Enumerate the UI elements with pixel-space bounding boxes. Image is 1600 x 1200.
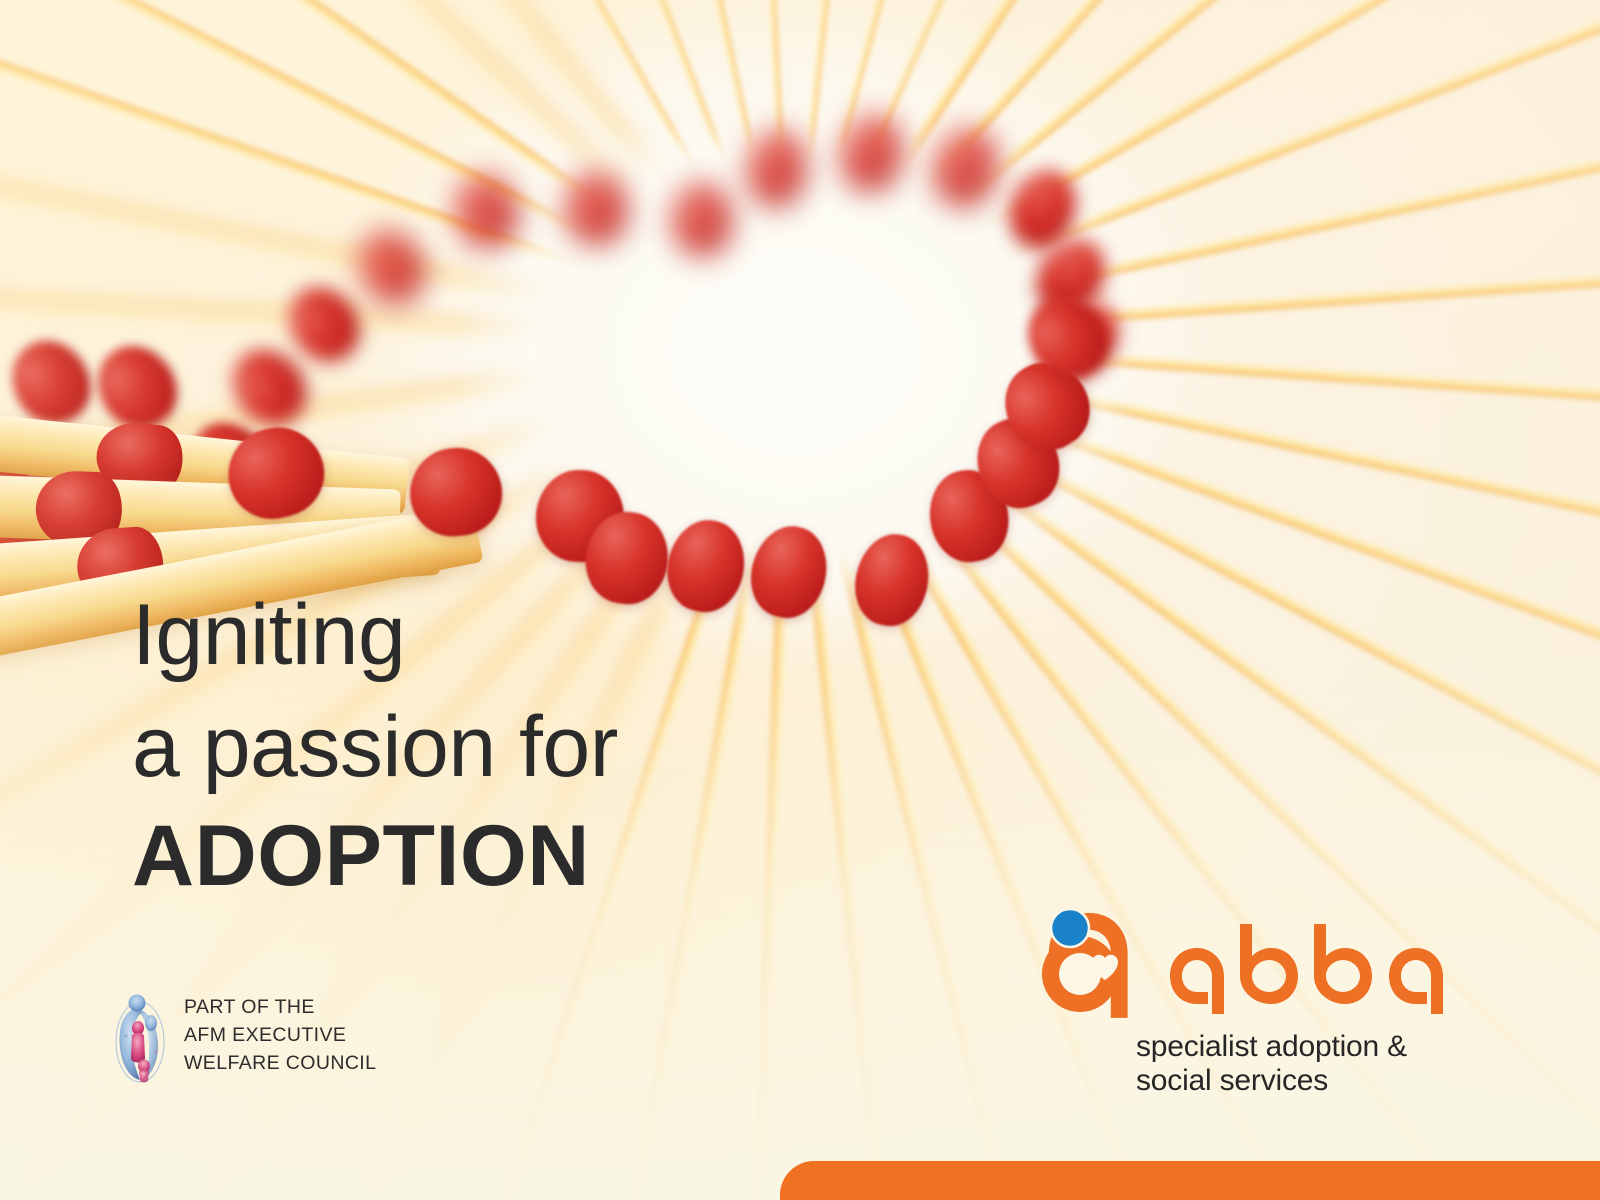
abba-tagline-line-2: social services <box>1136 1064 1448 1098</box>
afm-line-1: PART OF THE <box>184 994 376 1022</box>
match-head <box>346 220 435 314</box>
afm-badge: PART OF THE AFM EXECUTIVE WELFARE COUNCI… <box>112 986 376 1086</box>
afm-line-2: AFM EXECUTIVE <box>184 1022 376 1050</box>
abba-a-heart-icon <box>1028 900 1148 1022</box>
family-watercolor-icon <box>112 986 168 1086</box>
match-head <box>276 274 372 373</box>
abba-logo-row <box>1028 900 1448 1022</box>
afm-badge-text: PART OF THE AFM EXECUTIVE WELFARE COUNCI… <box>184 994 376 1077</box>
headline-line-1: Igniting <box>132 592 618 680</box>
headline: Igniting a passion for ADOPTION <box>132 592 618 901</box>
abba-logo: specialist adoption & social services <box>1028 900 1448 1097</box>
headline-line-3: ADOPTION <box>132 813 618 901</box>
afm-line-3: WELFARE COUNCIL <box>184 1050 376 1078</box>
abba-tagline-line-1: specialist adoption & <box>1136 1030 1448 1064</box>
poster-canvas: Igniting a passion for ADOPTION <box>0 0 1600 1200</box>
headline-line-2: a passion for <box>132 704 618 792</box>
footer-orange-bar <box>780 1161 1600 1200</box>
abba-tagline: specialist adoption & social services <box>1136 1030 1448 1097</box>
abba-wordmark <box>1164 918 1454 1018</box>
